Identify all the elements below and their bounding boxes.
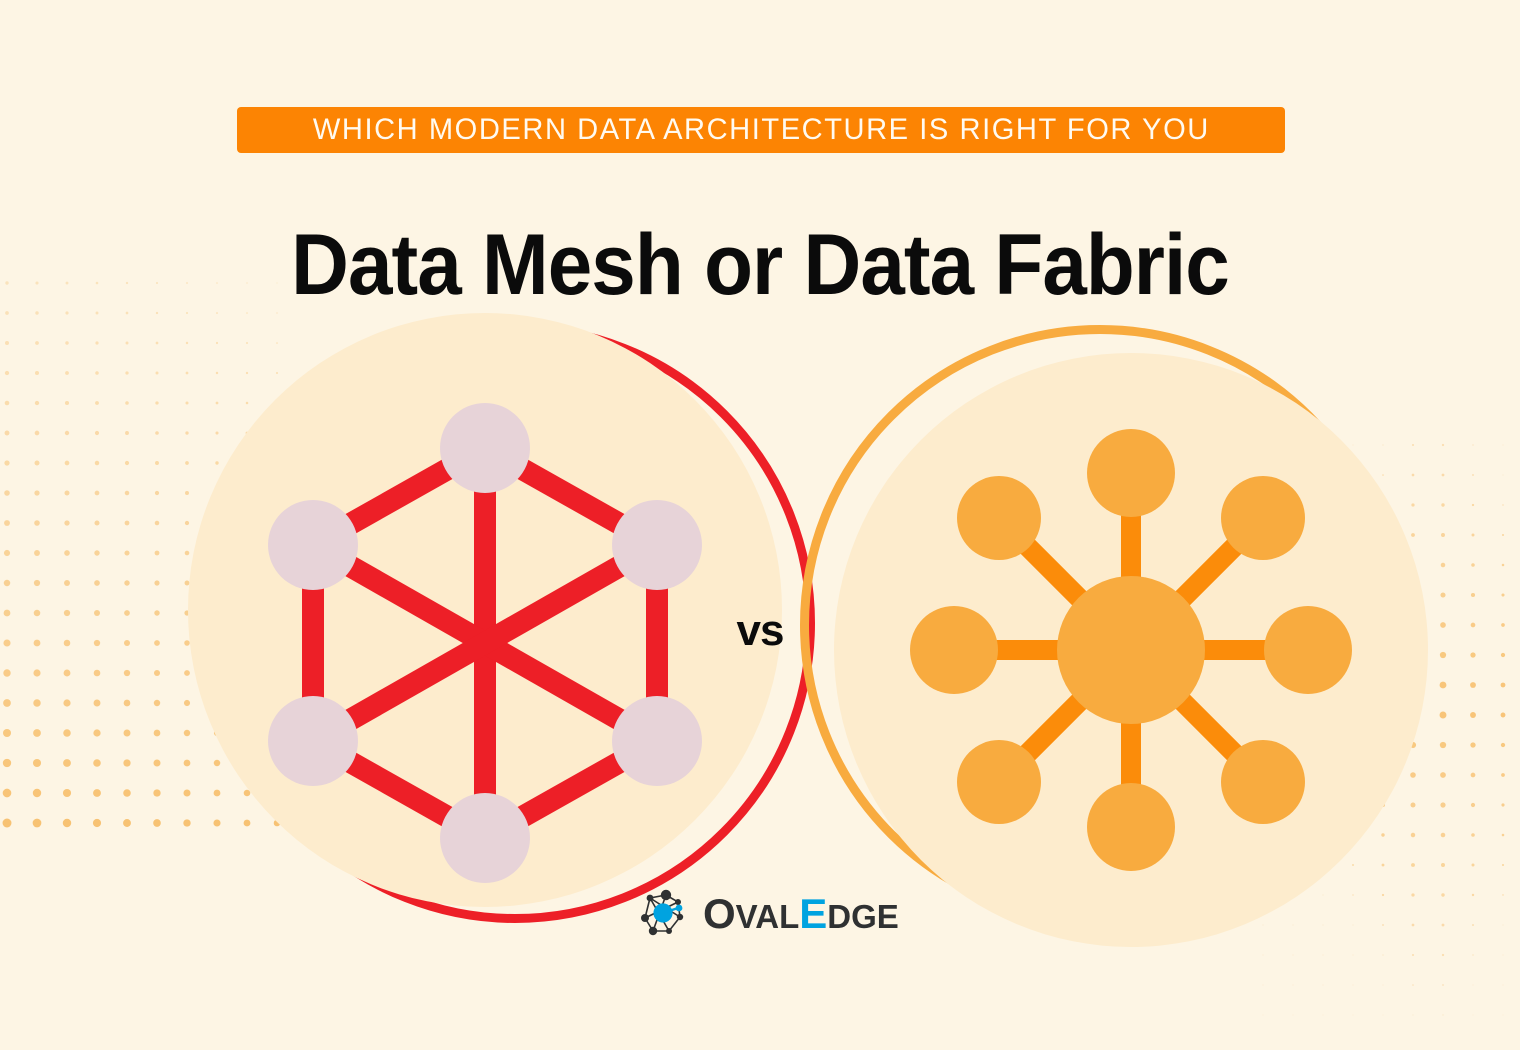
data-fabric-panel [790,305,1390,955]
eyebrow-banner: WHICH MODERN DATA ARCHITECTURE IS RIGHT … [237,107,1285,153]
fabric-satellite-node [1087,783,1175,871]
page-title: Data Mesh or Data Fabric [53,220,1467,310]
ovaledge-logo[interactable]: OVALEDGE [636,886,899,942]
data-mesh-panel [130,305,750,955]
hub-and-spoke-diagram [834,353,1428,947]
brand-letters-val: VAL [736,898,800,935]
fabric-satellite-node [910,606,998,694]
fabric-satellite-node [1087,429,1175,517]
fabric-satellite-node [1264,606,1352,694]
brand-letter-o: O [703,890,736,937]
eyebrow-text: WHICH MODERN DATA ARCHITECTURE IS RIGHT … [313,113,1210,147]
mesh-edges [313,448,657,838]
fabric-hub-node [1057,576,1205,724]
mesh-node [268,500,358,590]
mesh-node [440,793,530,883]
mesh-network-diagram [188,313,782,907]
brand-letters-dge: DGE [827,898,899,935]
fabric-satellite-node [957,476,1041,560]
infographic-canvas: WHICH MODERN DATA ARCHITECTURE IS RIGHT … [0,0,1520,1050]
network-nodes-icon [636,886,692,942]
fabric-satellite-node [957,740,1041,824]
fabric-satellite-node [1221,740,1305,824]
mesh-node [612,500,702,590]
mesh-node [612,696,702,786]
mesh-node [268,696,358,786]
fabric-satellite-node [1221,476,1305,560]
ovaledge-wordmark: OVALEDGE [703,893,899,935]
brand-letter-e: E [799,890,827,937]
mesh-node [440,403,530,493]
